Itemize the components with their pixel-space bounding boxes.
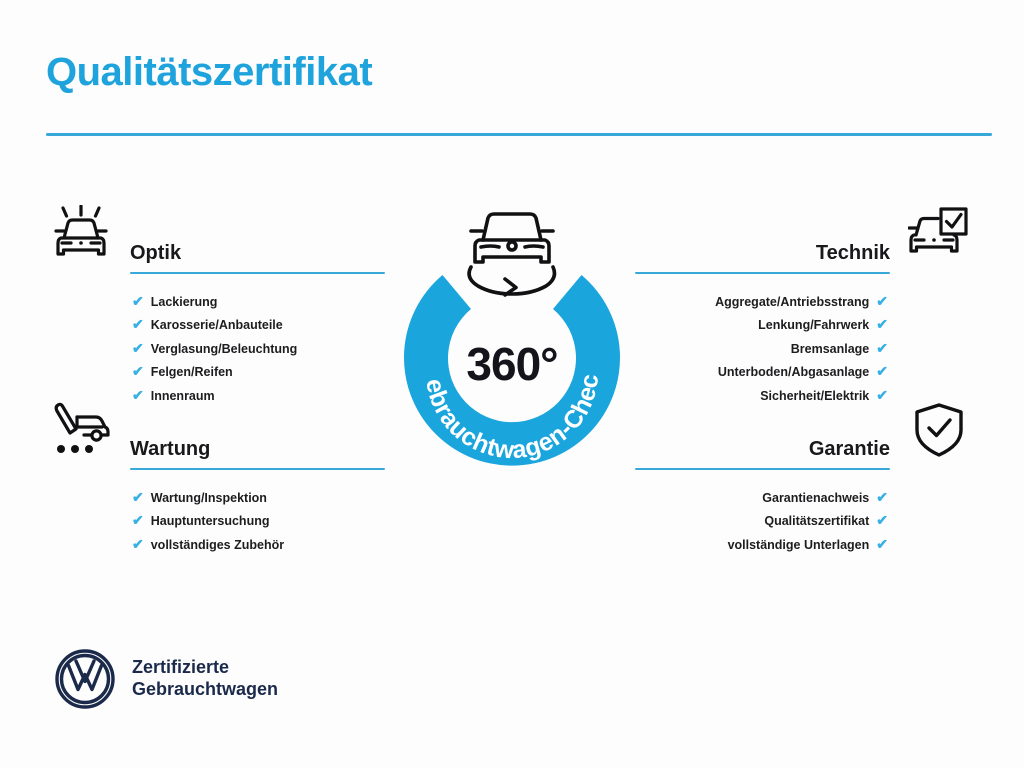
checklist-garantie: ✔ Garantienachweis ✔ Qualitätszertifikat… [634, 486, 888, 557]
list-item: ✔ Verglasung/Beleuchtung [132, 337, 386, 361]
section-titlebox-optik: Optik [130, 243, 385, 274]
section-wartung: Wartung ✔ Wartung/Inspektion ✔ Hauptunte… [46, 396, 386, 557]
list-item-label: Lackierung [151, 296, 218, 309]
list-item: ✔ Bremsanlage [634, 337, 888, 361]
list-item: ✔ vollständige Unterlagen [634, 533, 888, 557]
list-item: ✔ Garantienachweis [634, 486, 888, 510]
checklist-wartung: ✔ Wartung/Inspektion ✔ Hauptuntersuchung… [132, 486, 386, 557]
list-item: ✔ Felgen/Reifen [132, 361, 386, 385]
check-icon: ✔ [876, 317, 888, 331]
list-item-label: vollständiges Zubehör [151, 539, 284, 552]
title-divider [46, 133, 992, 136]
list-item-label: Aggregate/Antriebsstrang [715, 296, 869, 309]
vw-footer-line2: Gebrauchtwagen [132, 679, 278, 701]
check-icon: ✔ [132, 490, 144, 504]
section-garantie: Garantie ✔ Garantienachweis ✔ Qualitätsz… [634, 396, 974, 557]
list-item-label: vollständige Unterlagen [728, 539, 870, 552]
car-rotation-icon [454, 196, 570, 304]
list-item-label: Wartung/Inspektion [151, 492, 267, 505]
check-icon: ✔ [132, 294, 144, 308]
check-icon: ✔ [876, 490, 888, 504]
check-icon: ✔ [876, 537, 888, 551]
car-service-tool-icon [44, 396, 118, 464]
list-item: ✔ vollständiges Zubehör [132, 533, 386, 557]
list-item: ✔ Hauptuntersuchung [132, 510, 386, 534]
vw-footer-line1: Zertifizierte [132, 657, 278, 679]
car-shine-icon [44, 200, 118, 268]
section-title-wartung: Wartung [130, 439, 385, 468]
list-item-label: Hauptuntersuchung [151, 515, 270, 528]
list-item-label: Bremsanlage [791, 343, 870, 356]
list-item-label: Unterboden/Abgasanlage [718, 366, 869, 379]
checklist-technik: ✔ Aggregate/Antriebsstrang ✔ Lenkung/Fah… [634, 290, 888, 408]
vw-logo-icon [54, 648, 116, 710]
shield-check-icon [902, 396, 976, 464]
list-item-label: Lenkung/Fahrwerk [758, 319, 869, 332]
check-icon: ✔ [876, 294, 888, 308]
list-item: ✔ Lenkung/Fahrwerk [634, 314, 888, 338]
list-item: ✔ Unterboden/Abgasanlage [634, 361, 888, 385]
check-icon: ✔ [132, 364, 144, 378]
section-title-optik: Optik [130, 243, 385, 272]
check-icon: ✔ [132, 513, 144, 527]
vw-footer-logo: Zertifizierte Gebrauchtwagen [54, 648, 278, 710]
list-item-label: Qualitätszertifikat [764, 515, 869, 528]
vw-footer-text: Zertifizierte Gebrauchtwagen [132, 657, 278, 701]
section-underline-garantie [635, 468, 890, 470]
section-titlebox-wartung: Wartung [130, 439, 385, 470]
section-header-technik: Technik [634, 200, 974, 274]
list-item-label: Felgen/Reifen [151, 366, 233, 379]
section-optik: Optik ✔ Lackierung ✔ Karosserie/Anbautei… [46, 200, 386, 408]
list-item-label: Karosserie/Anbauteile [151, 319, 283, 332]
section-header-garantie: Garantie [634, 396, 974, 470]
certificate-page: Qualitätszertifikat Optik [0, 0, 1024, 768]
check-icon: ✔ [876, 513, 888, 527]
list-item-label: Verglasung/Beleuchtung [151, 343, 298, 356]
list-item: ✔ Lackierung [132, 290, 386, 314]
section-underline-optik [130, 272, 385, 274]
check-icon: ✔ [132, 537, 144, 551]
section-title-technik: Technik [635, 243, 890, 272]
section-header-wartung: Wartung [46, 396, 386, 470]
check-icon: ✔ [132, 317, 144, 331]
section-underline-wartung [130, 468, 385, 470]
badge-center-label: 360° [382, 341, 642, 387]
section-titlebox-garantie: Garantie [635, 439, 890, 470]
list-item: ✔ Aggregate/Antriebsstrang [634, 290, 888, 314]
badge-360-gebrauchtwagen-check: Gebrauchtwagen-Check 360° [382, 196, 642, 496]
section-header-optik: Optik [46, 200, 386, 274]
check-icon: ✔ [876, 364, 888, 378]
check-icon: ✔ [876, 341, 888, 355]
checklist-optik: ✔ Lackierung ✔ Karosserie/Anbauteile ✔ V… [132, 290, 386, 408]
page-title: Qualitätszertifikat [46, 50, 372, 94]
section-technik: Technik ✔ Aggregate/Antriebsstrang ✔ Len… [634, 200, 974, 408]
section-underline-technik [635, 272, 890, 274]
car-checkbox-icon [902, 200, 976, 268]
list-item-label: Garantienachweis [762, 492, 869, 505]
check-icon: ✔ [132, 341, 144, 355]
section-titlebox-technik: Technik [635, 243, 890, 274]
list-item: ✔ Karosserie/Anbauteile [132, 314, 386, 338]
section-title-garantie: Garantie [635, 439, 890, 468]
list-item: ✔ Qualitätszertifikat [634, 510, 888, 534]
list-item: ✔ Wartung/Inspektion [132, 486, 386, 510]
